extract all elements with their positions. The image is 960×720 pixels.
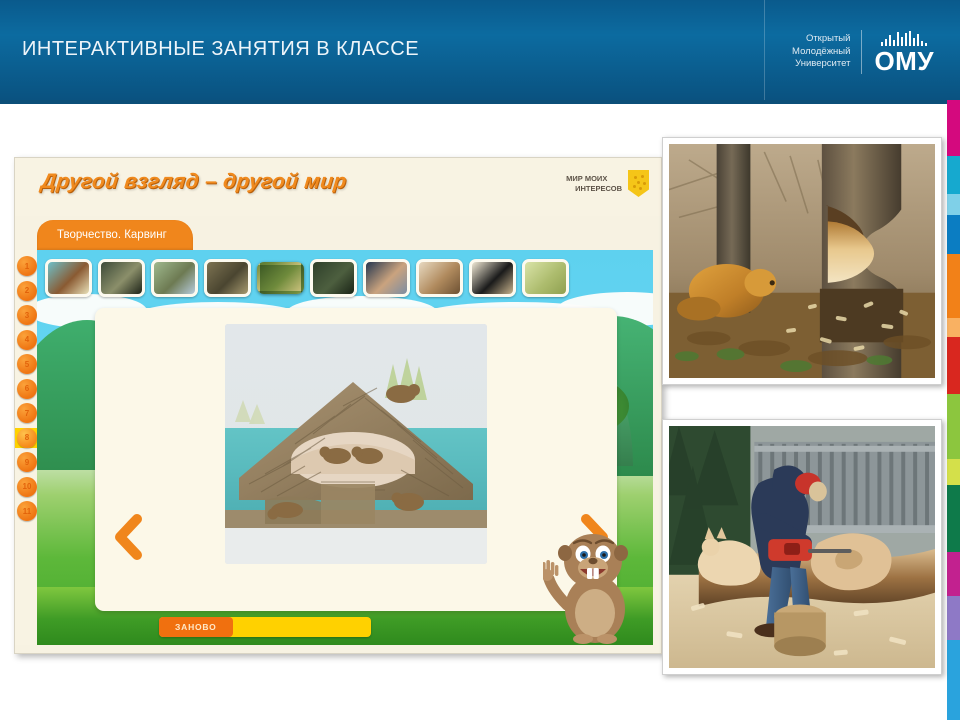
beaver-mascot-icon [543,513,639,645]
topic-tab[interactable]: Творчество. Карвинг [37,220,193,250]
restart-button[interactable]: ЗАНОВО [159,617,233,637]
logo-divider [764,0,765,104]
beaver-forest-photo-icon [669,144,935,378]
color-band-light-blue [947,194,960,214]
thumb-carved-egg[interactable] [416,259,463,297]
logo-line-2: Молодёжный [792,46,850,59]
interactive-lesson-screenshot: Другой взгляд – другой мир МИР МОИХ ИНТЕ… [14,157,662,654]
step-wrapper: 5 [15,354,39,374]
step-button-3[interactable]: 3 [17,305,37,325]
step-wrapper: 2 [15,281,39,301]
step-button-4[interactable]: 4 [17,330,37,350]
thumb-beaver-water[interactable] [45,259,92,297]
photo-beaver-image [669,144,935,378]
logo-mark: ОМУ [862,31,934,74]
step-wrapper: 1 [15,256,39,276]
lesson-app-header: Другой взгляд – другой мир МИР МОИХ ИНТЕ… [15,158,661,216]
decorative-color-strip [947,100,960,720]
chevron-left-icon [111,514,143,560]
thumb-dam-sticks[interactable] [98,259,145,297]
logo-line-3: Университет [792,58,850,71]
step-wrapper: 6 [15,379,39,399]
step-wrapper: 10 [15,477,39,497]
step-button-10[interactable]: 10 [17,477,37,497]
bar-equalizer-icon [874,31,934,46]
header-underline [0,100,948,104]
page-title: ИНТЕРАКТИВНЫЕ ЗАНЯТИЯ В КЛАССЕ [22,38,419,61]
photo-carving-image [669,426,935,668]
color-band-cyan [947,156,960,195]
color-band-dark-green [947,485,960,552]
brand-text: МИР МОИХ ИНТЕРЕСОВ [566,174,622,193]
logo-line-1: Открытый [792,33,850,46]
step-button-1[interactable]: 1 [17,256,37,276]
color-band-violet [947,596,960,640]
photo-chainsaw-wood-carving [662,419,942,675]
thumb-carved-eggs-pair[interactable] [469,259,516,297]
step-rail: 1234567891011 [15,250,39,645]
photo-beaver-gnawing-tree [662,137,942,385]
color-band-peach [947,318,960,337]
step-wrapper: 8 [15,428,39,448]
color-band-orange [947,254,960,319]
beaver-mascot [543,513,639,645]
shield-molecule-icon [628,170,649,197]
wood-carver-photo-icon [669,426,935,668]
brand-line-2: ИНТЕРЕСОВ [566,184,622,194]
restart-button-label: ЗАНОВО [175,622,217,632]
nav-prev-button[interactable] [111,514,143,560]
thumbnail-strip [45,256,645,300]
lesson-stage: ЗАНОВО [37,250,653,645]
step-wrapper: 7 [15,403,39,423]
color-band-lime [947,394,960,459]
step-wrapper: 11 [15,501,39,521]
step-wrapper: 9 [15,452,39,472]
beaver-lodge-cross-section-icon [225,324,487,564]
content-card [95,308,617,611]
thumb-lodge-pond[interactable] [151,259,198,297]
color-band-magenta [947,100,960,156]
brand-badge: МИР МОИХ ИНТЕРЕСОВ [566,170,649,197]
color-band-blue [947,215,960,254]
step-button-11[interactable]: 11 [17,501,37,521]
logo-wordmark: Открытый Молодёжный Университет [792,33,861,71]
step-button-7[interactable]: 7 [17,403,37,423]
thumb-field-animal[interactable] [257,262,304,294]
step-button-5[interactable]: 5 [17,354,37,374]
color-band-red [947,337,960,394]
lesson-app-title: Другой взгляд – другой мир [40,170,348,194]
brand-line-1: МИР МОИХ [566,174,622,184]
step-wrapper: 4 [15,330,39,350]
slide-header: ИНТЕРАКТИВНЫЕ ЗАНЯТИЯ В КЛАССЕ Открытый … [0,0,960,100]
thumb-person-carving[interactable] [363,259,410,297]
color-band-yellow-green [947,459,960,485]
thumb-melon-carving[interactable] [522,259,569,297]
step-button-8[interactable]: 8 [17,428,37,448]
restart-bar: ЗАНОВО [159,617,371,637]
step-wrapper: 3 [15,305,39,325]
thumb-dark-forest[interactable] [310,259,357,297]
topic-tab-label: Творчество. Карвинг [57,229,167,241]
step-button-9[interactable]: 9 [17,452,37,472]
step-button-6[interactable]: 6 [17,379,37,399]
step-button-2[interactable]: 2 [17,281,37,301]
color-band-purple-magenta [947,552,960,596]
color-band-sky-blue [947,640,960,720]
logo-abbreviation: ОМУ [874,48,934,74]
main-illustration[interactable] [225,324,487,564]
thumb-twigs-closeup[interactable] [204,259,251,297]
omu-logo: Открытый Молодёжный Университет ОМУ [792,22,934,82]
